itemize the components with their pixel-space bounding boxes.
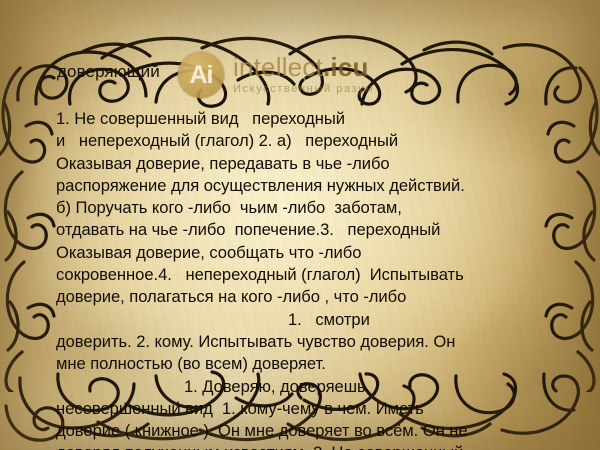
text-line: Оказывая доверие, сообщать что -либо bbox=[56, 242, 576, 264]
text-line: 1. смотри bbox=[56, 309, 576, 331]
watermark-brand-bold: .icu bbox=[323, 52, 369, 82]
text-line: распоряжение для осуществления нужных де… bbox=[56, 175, 576, 197]
text-line: доверял полученным известиям. 2. Не сове… bbox=[56, 442, 576, 450]
text-line: б) Поручать кого -либо чьим -либо забота… bbox=[56, 197, 576, 219]
watermark-tagline: Искусственный разум bbox=[233, 82, 374, 97]
ai-logo-icon: Ai bbox=[178, 52, 224, 98]
text-line: доверить. 2. кому. Испытывать чувство до… bbox=[56, 331, 576, 353]
dictionary-body-text: 1. Не совершенный вид переходныйи непере… bbox=[56, 108, 576, 450]
ornament-left-flourish bbox=[0, 62, 56, 392]
text-line: мне полностью (во всем) доверяет. bbox=[56, 353, 576, 375]
text-line: доверие, полагаться на кого -либо , что … bbox=[56, 286, 576, 308]
text-line: и непереходный (глагол) 2. а) переходный bbox=[56, 130, 576, 152]
watermark: Ai intellect.icu Искусственный разум bbox=[178, 52, 374, 98]
text-line: Оказывая доверие, передавать в чье -либо bbox=[56, 153, 576, 175]
text-line: сокровенное.4. непереходный (глагол) Исп… bbox=[56, 264, 576, 286]
parchment-page: Ai intellect.icu Искусственный разум дов… bbox=[0, 0, 600, 450]
text-line: 1. Не совершенный вид переходный bbox=[56, 108, 576, 130]
watermark-brand-light: intellect bbox=[233, 52, 323, 82]
watermark-brand: intellect.icu bbox=[233, 54, 374, 80]
text-line: отдавать на чье -либо попечение.3. перех… bbox=[56, 219, 576, 241]
text-line: несовершенный вид 1. кому-чему в чем. Им… bbox=[56, 398, 576, 420]
text-line: 1. Доверяю, доверяешь, bbox=[56, 376, 576, 398]
ai-logo-text: Ai bbox=[190, 63, 213, 88]
text-line: доверие ( книжное ). Он мне доверяет во … bbox=[56, 420, 576, 442]
page-title: доверяющий bbox=[57, 62, 160, 82]
watermark-text: intellect.icu Искусственный разум bbox=[233, 54, 374, 97]
